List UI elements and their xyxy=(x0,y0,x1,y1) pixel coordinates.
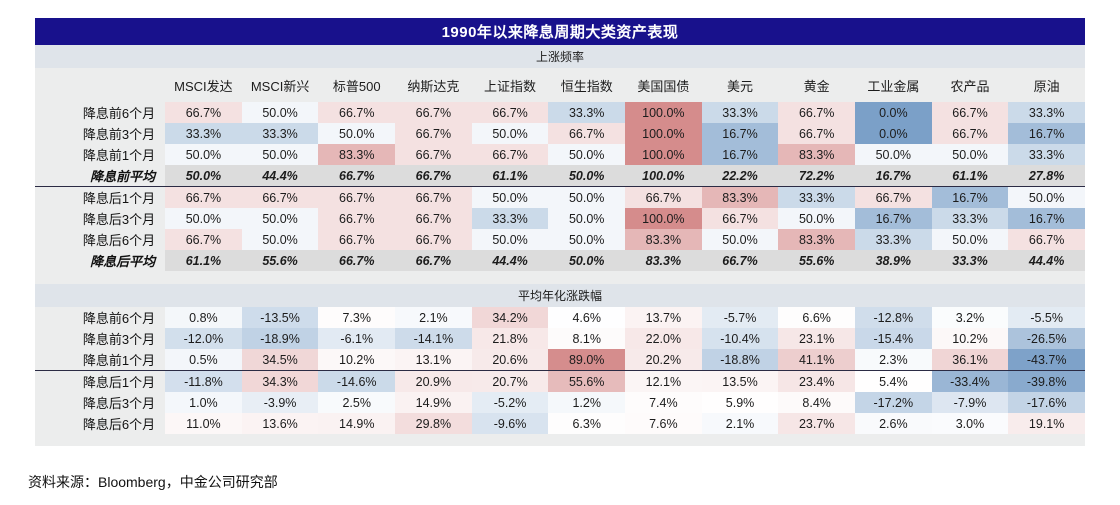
data-cell: 50.0% xyxy=(548,229,625,250)
data-cell: 44.4% xyxy=(242,165,319,187)
row-label: 降息后平均 xyxy=(35,250,165,271)
row-label: 降息后1个月 xyxy=(35,187,165,209)
data-cell: 66.7% xyxy=(625,187,702,209)
data-cell: 33.3% xyxy=(472,208,549,229)
data-cell: 66.7% xyxy=(395,123,472,144)
data-cell: 66.7% xyxy=(702,250,779,271)
data-cell: 34.5% xyxy=(242,349,319,371)
table-row: 降息前3个月33.3%33.3%50.0%66.7%50.0%66.7%100.… xyxy=(35,123,1085,144)
table-row: 降息后6个月66.7%50.0%66.7%66.7%50.0%50.0%83.3… xyxy=(35,229,1085,250)
data-cell: 66.7% xyxy=(395,208,472,229)
data-cell: -6.1% xyxy=(318,328,395,349)
data-cell: -15.4% xyxy=(855,328,932,349)
data-cell: 5.9% xyxy=(702,392,779,413)
data-cell: 6.3% xyxy=(548,413,625,434)
section-heading-frequency: 上涨频率 xyxy=(35,45,1085,68)
data-cell: 33.3% xyxy=(165,123,242,144)
table-row: 降息后3个月50.0%50.0%66.7%66.7%33.3%50.0%100.… xyxy=(35,208,1085,229)
data-cell: 50.0% xyxy=(318,123,395,144)
table-row: 降息前1个月50.0%50.0%83.3%66.7%66.7%50.0%100.… xyxy=(35,144,1085,165)
data-cell: 61.1% xyxy=(932,165,1009,187)
data-cell: 100.0% xyxy=(625,208,702,229)
data-cell: 89.0% xyxy=(548,349,625,371)
data-cell: 66.7% xyxy=(395,144,472,165)
table-row: 降息前6个月66.7%50.0%66.7%66.7%66.7%33.3%100.… xyxy=(35,102,1085,123)
data-cell: 29.8% xyxy=(395,413,472,434)
data-cell: 23.7% xyxy=(778,413,855,434)
data-cell: 7.3% xyxy=(318,307,395,328)
data-cell: 50.0% xyxy=(548,165,625,187)
data-cell: 50.0% xyxy=(1008,187,1085,209)
data-cell: -11.8% xyxy=(165,371,242,393)
table-row: 降息前1个月0.5%34.5%10.2%13.1%20.6%89.0%20.2%… xyxy=(35,349,1085,371)
data-cell: 12.1% xyxy=(625,371,702,393)
data-cell: 33.3% xyxy=(932,250,1009,271)
data-cell: -9.6% xyxy=(472,413,549,434)
section-gap xyxy=(35,271,1085,284)
data-cell: 2.1% xyxy=(702,413,779,434)
data-cell: 8.1% xyxy=(548,328,625,349)
data-cell: 50.0% xyxy=(702,229,779,250)
data-cell: 2.3% xyxy=(855,349,932,371)
data-cell: 20.9% xyxy=(395,371,472,393)
data-cell: 66.7% xyxy=(778,102,855,123)
data-cell: 13.1% xyxy=(395,349,472,371)
data-cell: 34.3% xyxy=(242,371,319,393)
data-cell: 20.6% xyxy=(472,349,549,371)
column-header-4: 纳斯达克 xyxy=(395,68,472,102)
data-cell: 66.7% xyxy=(318,165,395,187)
data-cell: 66.7% xyxy=(395,165,472,187)
data-cell: 0.0% xyxy=(855,102,932,123)
data-cell: 66.7% xyxy=(702,208,779,229)
column-header-11: 农产品 xyxy=(932,68,1009,102)
data-cell: 50.0% xyxy=(548,144,625,165)
data-cell: 14.9% xyxy=(395,392,472,413)
data-cell: 16.7% xyxy=(702,144,779,165)
data-cell: 61.1% xyxy=(165,250,242,271)
column-header-12: 原油 xyxy=(1008,68,1085,102)
data-cell: 66.7% xyxy=(855,187,932,209)
data-cell: 83.3% xyxy=(702,187,779,209)
data-cell: 50.0% xyxy=(242,102,319,123)
data-cell: 50.0% xyxy=(242,229,319,250)
table-row: 降息前平均50.0%44.4%66.7%66.7%61.1%50.0%100.0… xyxy=(35,165,1085,187)
data-cell: -7.9% xyxy=(932,392,1009,413)
column-header-5: 上证指数 xyxy=(472,68,549,102)
data-cell: -43.7% xyxy=(1008,349,1085,371)
data-cell: 66.7% xyxy=(1008,229,1085,250)
data-cell: 66.7% xyxy=(932,123,1009,144)
data-cell: 4.6% xyxy=(548,307,625,328)
column-header-10: 工业金属 xyxy=(855,68,932,102)
data-cell: 3.2% xyxy=(932,307,1009,328)
table-row: 降息前6个月0.8%-13.5%7.3%2.1%34.2%4.6%13.7%-5… xyxy=(35,307,1085,328)
data-cell: 33.3% xyxy=(778,187,855,209)
data-cell: 55.6% xyxy=(242,250,319,271)
row-label: 降息前3个月 xyxy=(35,123,165,144)
data-cell: 100.0% xyxy=(625,165,702,187)
returns-table: 降息前6个月0.8%-13.5%7.3%2.1%34.2%4.6%13.7%-5… xyxy=(35,307,1085,434)
data-cell: 33.3% xyxy=(855,229,932,250)
data-cell: -5.7% xyxy=(702,307,779,328)
data-cell: 50.0% xyxy=(242,144,319,165)
data-cell: 83.3% xyxy=(778,144,855,165)
row-label: 降息前1个月 xyxy=(35,349,165,371)
data-cell: 33.3% xyxy=(932,208,1009,229)
row-label: 降息后6个月 xyxy=(35,413,165,434)
data-cell: 16.7% xyxy=(1008,208,1085,229)
data-cell: 33.3% xyxy=(242,123,319,144)
row-label: 降息后3个月 xyxy=(35,208,165,229)
data-cell: -17.2% xyxy=(855,392,932,413)
table-row: 降息后平均61.1%55.6%66.7%66.7%44.4%50.0%83.3%… xyxy=(35,250,1085,271)
column-header-1: MSCI发达 xyxy=(165,68,242,102)
data-cell: 66.7% xyxy=(165,187,242,209)
data-cell: 66.7% xyxy=(242,187,319,209)
data-cell: 50.0% xyxy=(165,165,242,187)
table-row: 降息后3个月1.0%-3.9%2.5%14.9%-5.2%1.2%7.4%5.9… xyxy=(35,392,1085,413)
asset-performance-table: 1990年以来降息周期大类资产表现 上涨频率 MSCI发达MSCI新兴标普500… xyxy=(35,18,1085,446)
data-cell: 44.4% xyxy=(472,250,549,271)
data-cell: 50.0% xyxy=(778,208,855,229)
data-cell: 33.3% xyxy=(548,102,625,123)
data-cell: 66.7% xyxy=(395,102,472,123)
header-corner-cell xyxy=(35,68,165,102)
data-cell: 66.7% xyxy=(395,250,472,271)
data-cell: 66.7% xyxy=(318,250,395,271)
data-cell: -5.2% xyxy=(472,392,549,413)
data-cell: 50.0% xyxy=(472,123,549,144)
data-cell: -17.6% xyxy=(1008,392,1085,413)
data-cell: 50.0% xyxy=(548,187,625,209)
data-cell: -12.0% xyxy=(165,328,242,349)
row-label: 降息后1个月 xyxy=(35,371,165,393)
data-cell: 50.0% xyxy=(472,187,549,209)
data-cell: 23.4% xyxy=(778,371,855,393)
row-label: 降息前6个月 xyxy=(35,102,165,123)
data-cell: 50.0% xyxy=(165,208,242,229)
data-cell: 20.2% xyxy=(625,349,702,371)
data-cell: 72.2% xyxy=(778,165,855,187)
source-note: 资料来源：Bloomberg，中金公司研究部 xyxy=(28,472,278,492)
data-cell: 66.7% xyxy=(548,123,625,144)
data-cell: 14.9% xyxy=(318,413,395,434)
data-cell: 16.7% xyxy=(1008,123,1085,144)
data-cell: -5.5% xyxy=(1008,307,1085,328)
data-cell: 8.4% xyxy=(778,392,855,413)
column-header-7: 美国国债 xyxy=(625,68,702,102)
data-cell: -13.5% xyxy=(242,307,319,328)
data-cell: 66.7% xyxy=(395,187,472,209)
row-label: 降息后6个月 xyxy=(35,229,165,250)
data-cell: -14.6% xyxy=(318,371,395,393)
data-cell: 22.2% xyxy=(702,165,779,187)
data-cell: 66.7% xyxy=(318,187,395,209)
data-cell: 66.7% xyxy=(318,102,395,123)
data-cell: 0.8% xyxy=(165,307,242,328)
data-cell: 50.0% xyxy=(855,144,932,165)
data-cell: 50.0% xyxy=(472,229,549,250)
table-header-row: MSCI发达MSCI新兴标普500纳斯达克上证指数恒生指数美国国债美元黄金工业金… xyxy=(35,68,1085,102)
data-cell: 83.3% xyxy=(778,229,855,250)
data-cell: 5.4% xyxy=(855,371,932,393)
data-cell: 50.0% xyxy=(242,208,319,229)
data-cell: 13.7% xyxy=(625,307,702,328)
data-cell: 34.2% xyxy=(472,307,549,328)
data-cell: 10.2% xyxy=(932,328,1009,349)
data-cell: 36.1% xyxy=(932,349,1009,371)
data-cell: 16.7% xyxy=(702,123,779,144)
data-cell: 66.7% xyxy=(472,144,549,165)
data-cell: 1.0% xyxy=(165,392,242,413)
data-cell: 66.7% xyxy=(318,208,395,229)
data-cell: 66.7% xyxy=(778,123,855,144)
spacer-table xyxy=(35,271,1085,284)
column-header-6: 恒生指数 xyxy=(548,68,625,102)
table-row: 降息后1个月66.7%66.7%66.7%66.7%50.0%50.0%66.7… xyxy=(35,187,1085,209)
table-bottom-padding xyxy=(35,434,1085,446)
table-row: 降息后6个月11.0%13.6%14.9%29.8%-9.6%6.3%7.6%2… xyxy=(35,413,1085,434)
data-cell: 50.0% xyxy=(932,229,1009,250)
data-cell: 20.7% xyxy=(472,371,549,393)
page-title: 1990年以来降息周期大类资产表现 xyxy=(442,21,679,42)
data-cell: 13.5% xyxy=(702,371,779,393)
data-cell: 41.1% xyxy=(778,349,855,371)
data-cell: 2.5% xyxy=(318,392,395,413)
data-cell: -3.9% xyxy=(242,392,319,413)
data-cell: 33.3% xyxy=(1008,144,1085,165)
data-cell: 66.7% xyxy=(165,102,242,123)
data-cell: -18.8% xyxy=(702,349,779,371)
data-cell: 66.7% xyxy=(395,229,472,250)
data-cell: 100.0% xyxy=(625,102,702,123)
data-cell: 11.0% xyxy=(165,413,242,434)
title-bar: 1990年以来降息周期大类资产表现 xyxy=(35,18,1085,45)
data-cell: 66.7% xyxy=(472,102,549,123)
column-header-8: 美元 xyxy=(702,68,779,102)
data-cell: 16.7% xyxy=(855,208,932,229)
data-cell: 100.0% xyxy=(625,144,702,165)
data-cell: 13.6% xyxy=(242,413,319,434)
data-cell: 83.3% xyxy=(625,229,702,250)
data-cell: 100.0% xyxy=(625,123,702,144)
data-cell: 6.6% xyxy=(778,307,855,328)
data-cell: 2.6% xyxy=(855,413,932,434)
data-cell: 19.1% xyxy=(1008,413,1085,434)
section-heading-returns: 平均年化涨跌幅 xyxy=(35,284,1085,307)
data-cell: 7.6% xyxy=(625,413,702,434)
data-cell: 83.3% xyxy=(318,144,395,165)
data-cell: 55.6% xyxy=(778,250,855,271)
table-row: 降息后1个月-11.8%34.3%-14.6%20.9%20.7%55.6%12… xyxy=(35,371,1085,393)
data-cell: 66.7% xyxy=(318,229,395,250)
data-cell: 50.0% xyxy=(548,250,625,271)
data-cell: -14.1% xyxy=(395,328,472,349)
column-header-2: MSCI新兴 xyxy=(242,68,319,102)
data-cell: 83.3% xyxy=(625,250,702,271)
data-cell: 66.7% xyxy=(165,229,242,250)
data-cell: 1.2% xyxy=(548,392,625,413)
data-cell: 44.4% xyxy=(1008,250,1085,271)
data-cell: 61.1% xyxy=(472,165,549,187)
chart-sheet: 1990年以来降息周期大类资产表现 上涨频率 MSCI发达MSCI新兴标普500… xyxy=(0,0,1120,505)
data-cell: 0.0% xyxy=(855,123,932,144)
data-cell: 27.8% xyxy=(1008,165,1085,187)
data-cell: 50.0% xyxy=(932,144,1009,165)
data-cell: 16.7% xyxy=(855,165,932,187)
data-cell: -12.8% xyxy=(855,307,932,328)
data-cell: 10.2% xyxy=(318,349,395,371)
data-cell: -18.9% xyxy=(242,328,319,349)
data-cell: 21.8% xyxy=(472,328,549,349)
row-label: 降息后3个月 xyxy=(35,392,165,413)
row-label: 降息前1个月 xyxy=(35,144,165,165)
data-cell: -39.8% xyxy=(1008,371,1085,393)
data-cell: 50.0% xyxy=(548,208,625,229)
section-heading-frequency-label: 上涨频率 xyxy=(536,48,584,65)
data-cell: 66.7% xyxy=(932,102,1009,123)
data-cell: 7.4% xyxy=(625,392,702,413)
data-cell: 50.0% xyxy=(165,144,242,165)
data-cell: -26.5% xyxy=(1008,328,1085,349)
column-header-9: 黄金 xyxy=(778,68,855,102)
data-cell: -33.4% xyxy=(932,371,1009,393)
row-label: 降息前平均 xyxy=(35,165,165,187)
data-cell: 16.7% xyxy=(932,187,1009,209)
data-cell: 22.0% xyxy=(625,328,702,349)
data-cell: -10.4% xyxy=(702,328,779,349)
frequency-table: MSCI发达MSCI新兴标普500纳斯达克上证指数恒生指数美国国债美元黄金工业金… xyxy=(35,68,1085,271)
column-header-3: 标普500 xyxy=(318,68,395,102)
data-cell: 38.9% xyxy=(855,250,932,271)
row-label: 降息前6个月 xyxy=(35,307,165,328)
data-cell: 33.3% xyxy=(702,102,779,123)
data-cell: 33.3% xyxy=(1008,102,1085,123)
data-cell: 2.1% xyxy=(395,307,472,328)
table-row: 降息前3个月-12.0%-18.9%-6.1%-14.1%21.8%8.1%22… xyxy=(35,328,1085,349)
data-cell: 3.0% xyxy=(932,413,1009,434)
data-cell: 23.1% xyxy=(778,328,855,349)
section-heading-returns-label: 平均年化涨跌幅 xyxy=(518,287,602,304)
data-cell: 0.5% xyxy=(165,349,242,371)
row-label: 降息前3个月 xyxy=(35,328,165,349)
data-cell: 55.6% xyxy=(548,371,625,393)
